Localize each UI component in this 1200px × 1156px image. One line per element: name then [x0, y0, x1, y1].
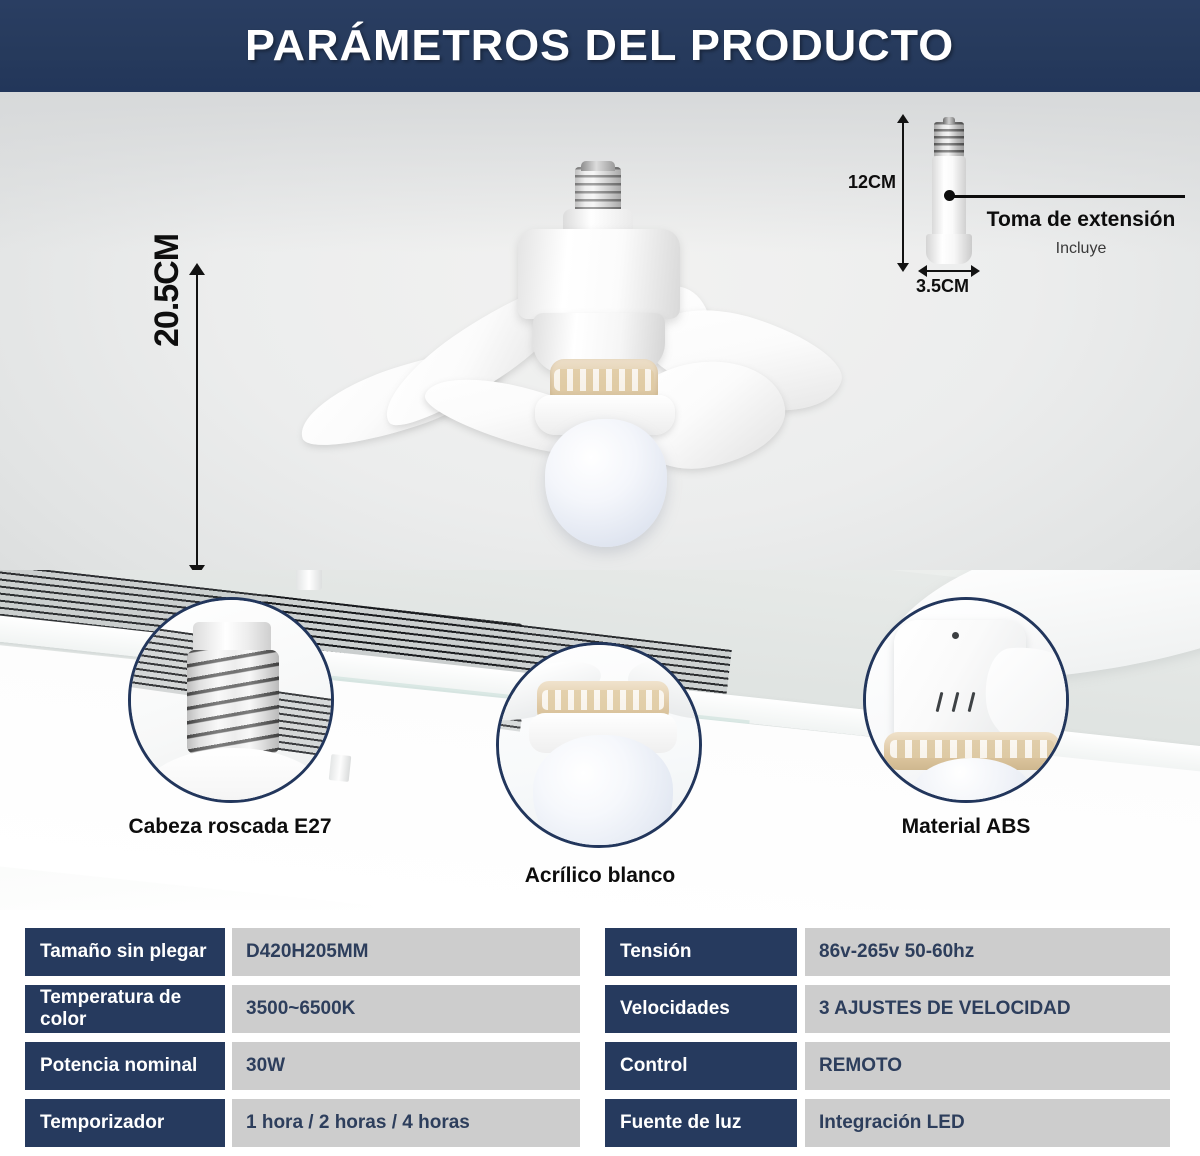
cell-gap	[225, 985, 232, 1033]
feature-circle-e27	[128, 597, 334, 803]
height-dimension-label: 20.5CM	[148, 234, 187, 347]
spec-key: Tamaño sin plegar	[25, 928, 225, 976]
table-row: Velocidades 3 AJUSTES DE VELOCIDAD	[605, 985, 1170, 1033]
table-row: Tensión 86v-265v 50-60hz	[605, 928, 1170, 976]
spec-key: Tensión	[605, 928, 797, 976]
spec-value: REMOTO	[805, 1042, 1170, 1090]
extension-socket-callout: 12CM 3.5CM Toma de extensión Incluye	[860, 114, 1190, 294]
spec-key: Velocidades	[605, 985, 797, 1033]
spec-table-left-column: Tamaño sin plegar D420H205MM Temperatura…	[25, 928, 580, 1156]
extension-height-arrow	[902, 122, 904, 264]
fan-upper-housing	[518, 229, 680, 319]
spec-key: Control	[605, 1042, 797, 1090]
table-row: Temperatura de color 3500~6500K	[25, 985, 580, 1033]
cell-gap	[225, 928, 232, 976]
spec-value: D420H205MM	[232, 928, 580, 976]
feature-label-abs: Material ABS	[796, 815, 1136, 839]
cell-gap	[797, 1042, 805, 1090]
height-dimension-arrow	[196, 274, 198, 566]
spec-value: 3 AJUSTES DE VELOCIDAD	[805, 985, 1170, 1033]
extension-screw-thread-icon	[934, 122, 964, 158]
spec-table-right-column: Tensión 86v-265v 50-60hz Velocidades 3 A…	[605, 928, 1170, 1156]
product-dimension-diagram: 20.5CM 42CM 12CM 3.5CM Toma de exte	[0, 92, 1200, 570]
cell-gap	[797, 985, 805, 1033]
extension-width-label: 3.5CM	[916, 276, 969, 297]
ceiling-fan-lamp-illustration	[375, 167, 825, 557]
spec-value: 30W	[232, 1042, 580, 1090]
ceiling-installation-photo: Cabeza roscada E27 Acrílico blanco Mater…	[0, 570, 1200, 910]
cell-gap	[797, 928, 805, 976]
feature-circle-acrylic	[496, 642, 702, 848]
e27-screw-base-icon	[575, 167, 621, 213]
extension-flare	[926, 234, 972, 264]
feature-circle-abs	[863, 597, 1069, 803]
cell-gap	[225, 1042, 232, 1090]
table-row: Tamaño sin plegar D420H205MM	[25, 928, 580, 976]
specification-table: Tamaño sin plegar D420H205MM Temperatura…	[0, 928, 1200, 1140]
ceiling-fixture	[329, 754, 352, 782]
spec-key: Potencia nominal	[25, 1042, 225, 1090]
acrylic-globe-icon	[533, 735, 673, 848]
table-row: Potencia nominal 30W	[25, 1042, 580, 1090]
feature-label-acrylic: Acrílico blanco	[430, 864, 770, 888]
spec-value: 86v-265v 50-60hz	[805, 928, 1170, 976]
feature-label-e27: Cabeza roscada E27	[60, 815, 400, 839]
extension-height-label: 12CM	[848, 172, 896, 193]
vent-slits-icon	[936, 692, 984, 712]
acrylic-globe-icon	[545, 419, 667, 547]
leader-line	[952, 195, 1185, 198]
extension-callout-title: Toma de extensión	[972, 208, 1190, 232]
extension-width-arrow	[926, 270, 972, 272]
ceiling-fixture	[296, 570, 322, 590]
e27-screw-base-icon	[187, 650, 279, 754]
page-header-banner: PARÁMETROS DEL PRODUCTO	[0, 0, 1200, 92]
spec-value: 3500~6500K	[232, 985, 580, 1033]
spec-key: Temperatura de color	[25, 985, 225, 1033]
table-row: Control REMOTO	[605, 1042, 1170, 1090]
page-title: PARÁMETROS DEL PRODUCTO	[245, 21, 954, 71]
extension-callout-subtitle: Incluye	[972, 240, 1190, 258]
screw-hole-icon	[952, 632, 959, 639]
